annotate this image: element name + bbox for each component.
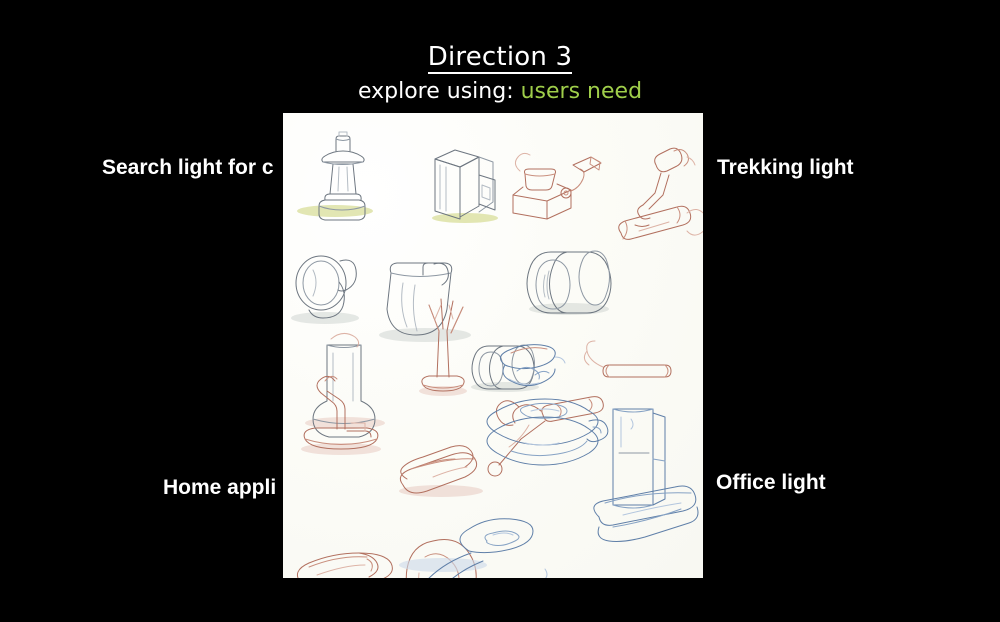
sketch-group-bottom-left xyxy=(297,376,483,578)
label-office-light: Office light xyxy=(716,472,826,493)
label-home-appliance-light: Home appli xyxy=(163,477,276,498)
slide-canvas: Direction 3 explore using: users need Se… xyxy=(0,0,1000,622)
page-subtitle: explore using: users need xyxy=(0,80,1000,104)
sketch-group-top-left xyxy=(291,132,611,392)
page-title: Direction 3 xyxy=(428,44,572,74)
sketch-drawings xyxy=(283,113,703,578)
concept-sketch-sheet xyxy=(283,113,703,578)
label-search-light: Search light for c xyxy=(102,157,274,178)
title-block: Direction 3 explore using: users need xyxy=(0,44,1000,104)
subtitle-highlight: users need xyxy=(521,79,642,104)
subtitle-prefix: explore using: xyxy=(358,79,521,104)
label-trekking-light: Trekking light xyxy=(717,157,854,178)
